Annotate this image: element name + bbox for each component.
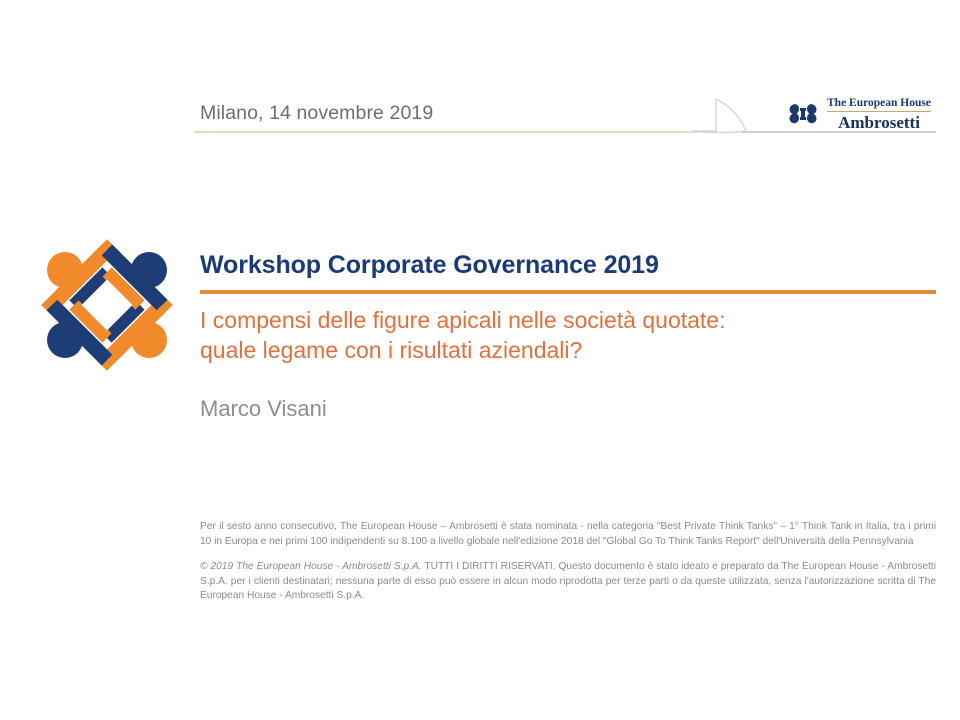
- brand-divider: [827, 111, 931, 112]
- copyright-note: © 2019 The European House - Ambrosetti S…: [200, 560, 936, 604]
- subtitle-line-1: I compensi delle figure apicali nelle so…: [200, 305, 940, 335]
- sail-shape-icon: [690, 96, 750, 134]
- copyright-holder: © 2019 The European House - Ambrosetti S…: [200, 561, 422, 572]
- ambrosetti-logo-text: The European House Ambrosetti: [821, 96, 937, 132]
- header-date: Milano, 14 novembre 2019: [200, 102, 433, 125]
- interlocking-diamonds-logo: [38, 236, 176, 374]
- slide-header: Milano, 14 novembre 2019 The European Ho…: [0, 0, 960, 150]
- footer-fine-print: Per il sesto anno consecutivo, The Europ…: [200, 520, 936, 604]
- header-rule-left: [194, 131, 699, 133]
- title-block: Workshop Corporate Governance 2019 I com…: [200, 250, 940, 422]
- brand-line-ambrosetti: Ambrosetti: [821, 113, 937, 132]
- subtitle-line-2: quale legame con i risultati aziendali?: [200, 335, 940, 365]
- ambrosetti-knot-icon: [788, 100, 818, 128]
- ambrosetti-logo: The European House Ambrosetti: [788, 96, 938, 134]
- title-divider-rule: [200, 290, 936, 294]
- award-note: Per il sesto anno consecutivo, The Europ…: [200, 520, 936, 549]
- brand-line-european-house: The European House: [821, 96, 937, 110]
- page-subtitle: I compensi delle figure apicali nelle so…: [200, 305, 940, 365]
- page-title: Workshop Corporate Governance 2019: [200, 250, 940, 280]
- author-name: Marco Visani: [200, 396, 940, 422]
